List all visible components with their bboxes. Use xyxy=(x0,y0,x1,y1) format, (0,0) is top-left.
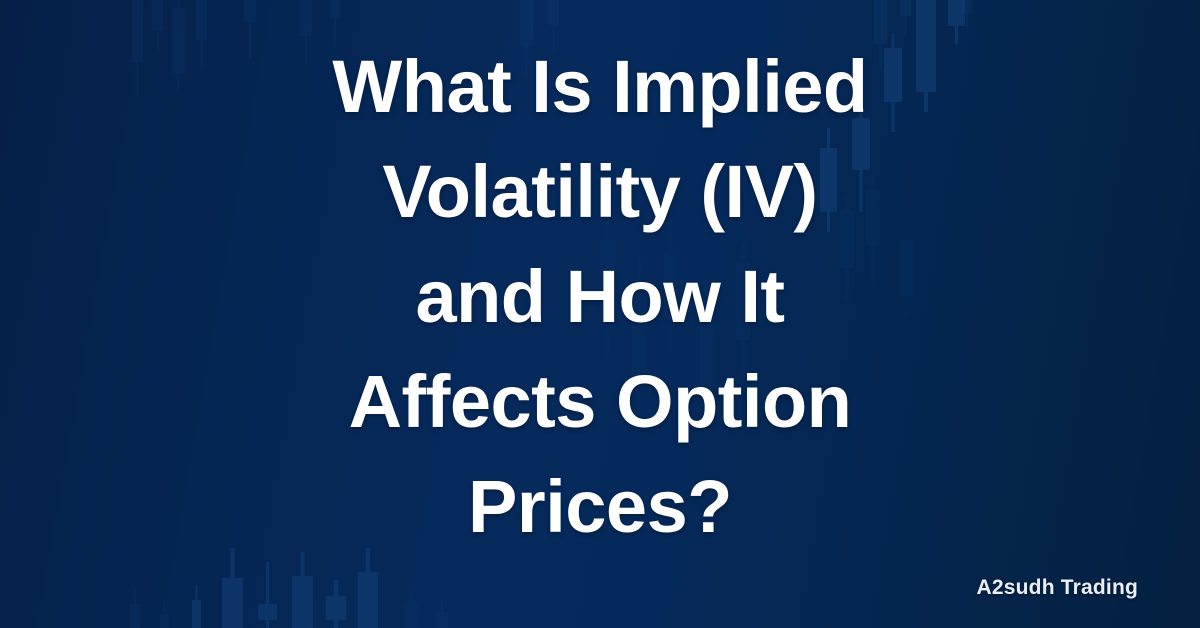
candle-group-bottom-right-faint xyxy=(404,590,448,628)
candle-body xyxy=(258,604,277,620)
candle-body xyxy=(548,0,559,26)
candle-group-bottom-left-faint xyxy=(130,590,169,628)
candle-group-bottom-center-cluster xyxy=(192,548,378,628)
candle-body xyxy=(962,0,972,14)
candle-body xyxy=(192,600,201,628)
candle-body xyxy=(358,572,378,628)
brand-name: A2sudh Trading xyxy=(977,576,1138,600)
candle-body xyxy=(326,596,346,620)
title-line-5: Prices? xyxy=(90,454,1110,559)
candle-body xyxy=(292,576,313,628)
candle-body xyxy=(436,612,448,628)
page-title: What Is Implied Volatility (IV) and How … xyxy=(0,34,1200,559)
candle-body xyxy=(130,604,140,628)
title-line-4: Affects Option xyxy=(90,349,1110,454)
banner-canvas: What Is Implied Volatility (IV) and How … xyxy=(0,0,1200,628)
title-line-3: and How It xyxy=(90,244,1110,349)
candle-body xyxy=(244,0,256,22)
candle-body xyxy=(160,614,169,628)
candle-body xyxy=(152,0,163,30)
candle-body xyxy=(222,578,243,628)
candle-body xyxy=(330,0,340,18)
candle-body xyxy=(900,0,911,16)
title-line-1: What Is Implied xyxy=(90,34,1110,139)
candle-body xyxy=(300,0,312,36)
title-line-2: Volatility (IV) xyxy=(90,139,1110,244)
candle-body xyxy=(404,604,418,628)
